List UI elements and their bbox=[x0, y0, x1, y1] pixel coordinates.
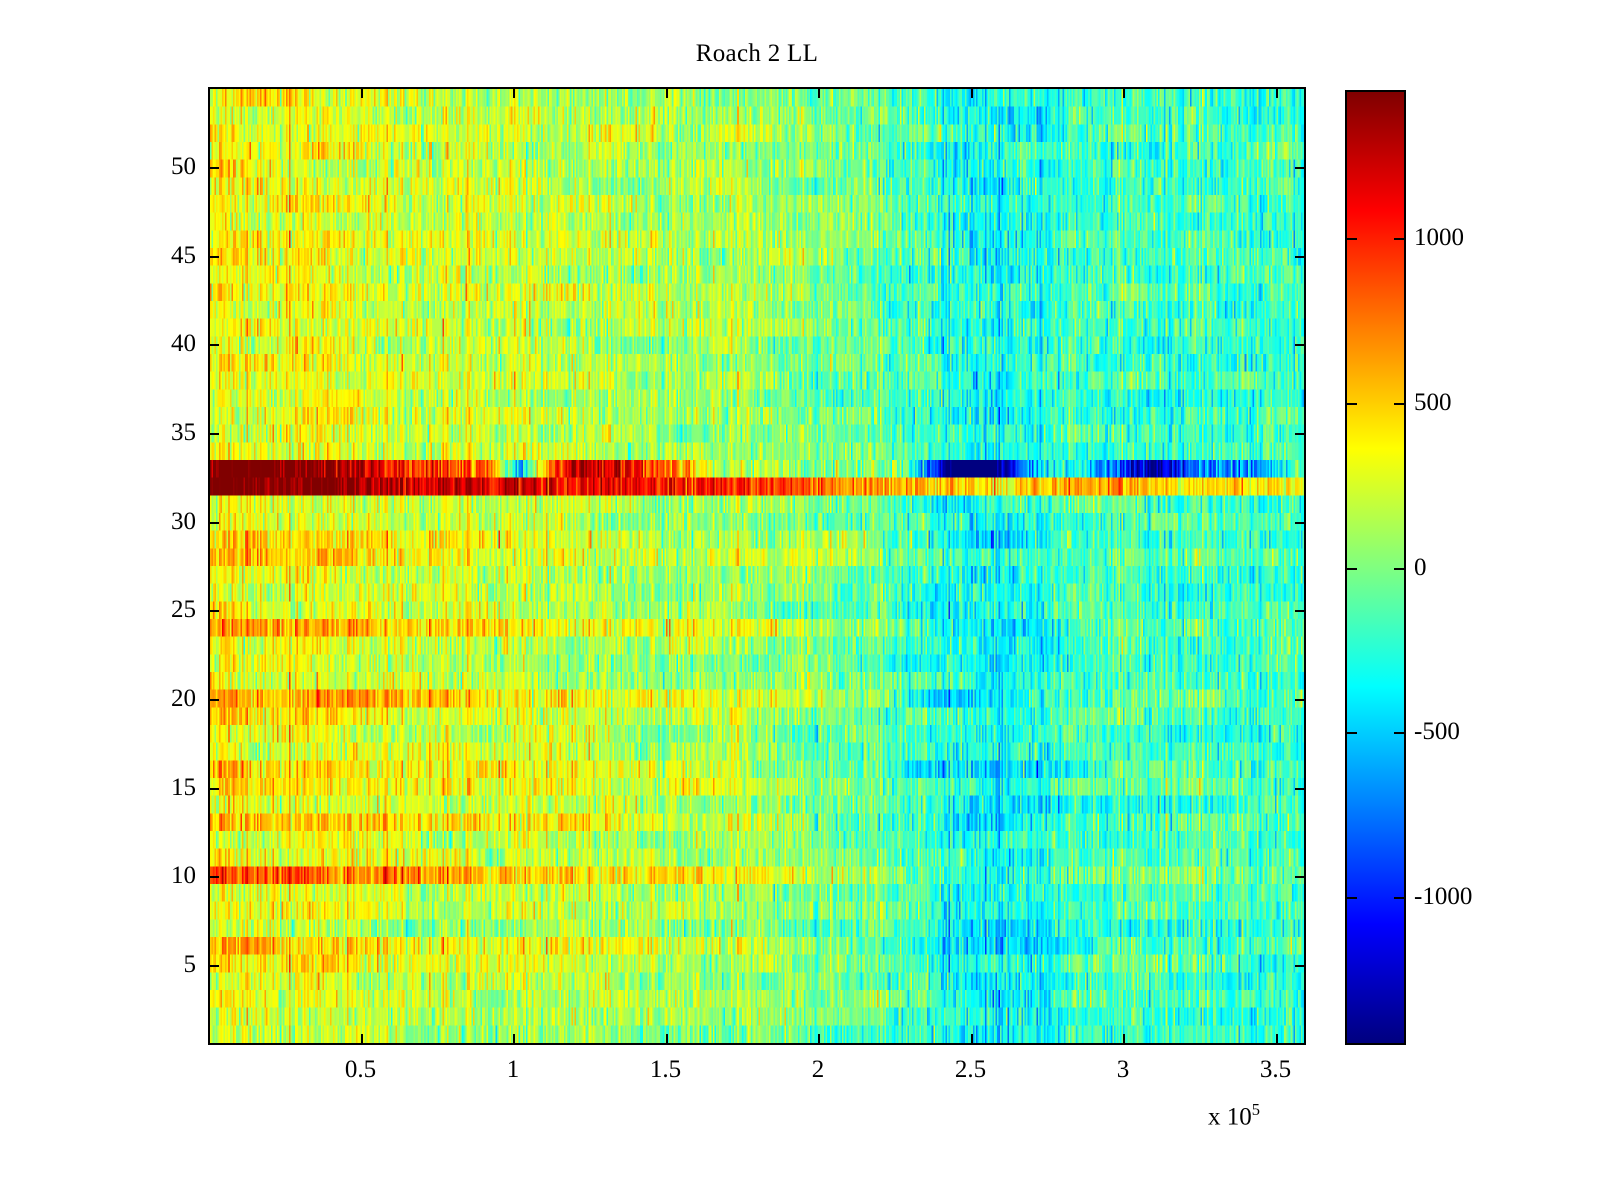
y-axis-tick-45 bbox=[208, 256, 219, 258]
x-axis-label-1.5: 1.5 bbox=[650, 1056, 681, 1084]
colorbar-tick-right-0 bbox=[1394, 568, 1406, 570]
y-axis-label-5: 5 bbox=[184, 951, 197, 979]
x-axis-tick-3.5 bbox=[1276, 1034, 1278, 1045]
colorbar-tick-left--1000 bbox=[1345, 897, 1357, 899]
y-axis-tick-right-5 bbox=[1295, 965, 1306, 967]
x-axis-tick-top-1.5 bbox=[666, 87, 668, 98]
colorbar-tick-left--500 bbox=[1345, 732, 1357, 734]
colorbar-tick-left-1000 bbox=[1345, 238, 1357, 240]
x-axis-tick-2.5 bbox=[971, 1034, 973, 1045]
figure-canvas: Roach 2 LL 50454035302520151050.511.522.… bbox=[0, 0, 1600, 1200]
x-axis-tick-top-0.5 bbox=[361, 87, 363, 98]
colorbar-label-500: 500 bbox=[1414, 389, 1452, 417]
y-axis-tick-right-30 bbox=[1295, 522, 1306, 524]
y-axis-tick-15 bbox=[208, 788, 219, 790]
y-axis-label-15: 15 bbox=[171, 774, 196, 802]
y-axis-tick-40 bbox=[208, 344, 219, 346]
colorbar-label--500: -500 bbox=[1414, 718, 1460, 746]
x-axis-label-0.5: 0.5 bbox=[345, 1056, 376, 1084]
y-axis-tick-right-25 bbox=[1295, 610, 1306, 612]
y-axis-label-30: 30 bbox=[171, 508, 196, 536]
y-axis-tick-5 bbox=[208, 965, 219, 967]
x-axis-tick-2 bbox=[818, 1034, 820, 1045]
colorbar-label-0: 0 bbox=[1414, 554, 1427, 582]
colorbar-label-1000: 1000 bbox=[1414, 224, 1464, 252]
x-axis-label-3.5: 3.5 bbox=[1260, 1056, 1291, 1084]
y-axis-tick-right-40 bbox=[1295, 344, 1306, 346]
y-axis-tick-10 bbox=[208, 876, 219, 878]
colorbar-tick-right--1000 bbox=[1394, 897, 1406, 899]
x-axis-tick-top-3 bbox=[1123, 87, 1125, 98]
x-axis-tick-0.5 bbox=[361, 1034, 363, 1045]
x-exponent-mantissa: x 10 bbox=[1208, 1103, 1252, 1130]
y-axis-label-20: 20 bbox=[171, 685, 196, 713]
y-axis-tick-right-20 bbox=[1295, 699, 1306, 701]
x-axis-label-2: 2 bbox=[812, 1056, 825, 1084]
y-axis-tick-25 bbox=[208, 610, 219, 612]
y-axis-label-35: 35 bbox=[171, 419, 196, 447]
x-axis-tick-top-2 bbox=[818, 87, 820, 98]
x-axis-label-2.5: 2.5 bbox=[955, 1056, 986, 1084]
colorbar-label--1000: -1000 bbox=[1414, 883, 1472, 911]
y-axis-label-25: 25 bbox=[171, 596, 196, 624]
y-axis-tick-30 bbox=[208, 522, 219, 524]
colorbar-tick-right-1000 bbox=[1394, 238, 1406, 240]
y-axis-label-10: 10 bbox=[171, 862, 196, 890]
y-axis-tick-right-35 bbox=[1295, 433, 1306, 435]
x-axis-tick-3 bbox=[1123, 1034, 1125, 1045]
heatmap-axes[interactable] bbox=[208, 87, 1306, 1045]
y-axis-tick-right-45 bbox=[1295, 256, 1306, 258]
x-axis-tick-1.5 bbox=[666, 1034, 668, 1045]
x-axis-label-1: 1 bbox=[507, 1056, 520, 1084]
page-title: Roach 2 LL bbox=[208, 40, 1306, 68]
y-axis-label-40: 40 bbox=[171, 330, 196, 358]
y-axis-tick-35 bbox=[208, 433, 219, 435]
x-axis-tick-1 bbox=[513, 1034, 515, 1045]
colorbar-tick-right--500 bbox=[1394, 732, 1406, 734]
y-axis-tick-right-15 bbox=[1295, 788, 1306, 790]
y-axis-tick-20 bbox=[208, 699, 219, 701]
y-axis-label-50: 50 bbox=[171, 153, 196, 181]
x-exponent-power: 5 bbox=[1252, 1100, 1260, 1119]
colorbar-tick-left-0 bbox=[1345, 568, 1357, 570]
colorbar-tick-right-500 bbox=[1394, 403, 1406, 405]
x-axis-tick-top-2.5 bbox=[971, 87, 973, 98]
x-axis-exponent-label: x 105 bbox=[1208, 1100, 1260, 1131]
x-axis-tick-top-3.5 bbox=[1276, 87, 1278, 98]
x-axis-label-3: 3 bbox=[1117, 1056, 1130, 1084]
x-axis-tick-top-1 bbox=[513, 87, 515, 98]
y-axis-tick-right-10 bbox=[1295, 876, 1306, 878]
y-axis-tick-50 bbox=[208, 167, 219, 169]
y-axis-tick-right-50 bbox=[1295, 167, 1306, 169]
heatmap-image bbox=[210, 89, 1304, 1043]
y-axis-label-45: 45 bbox=[171, 242, 196, 270]
colorbar-tick-left-500 bbox=[1345, 403, 1357, 405]
